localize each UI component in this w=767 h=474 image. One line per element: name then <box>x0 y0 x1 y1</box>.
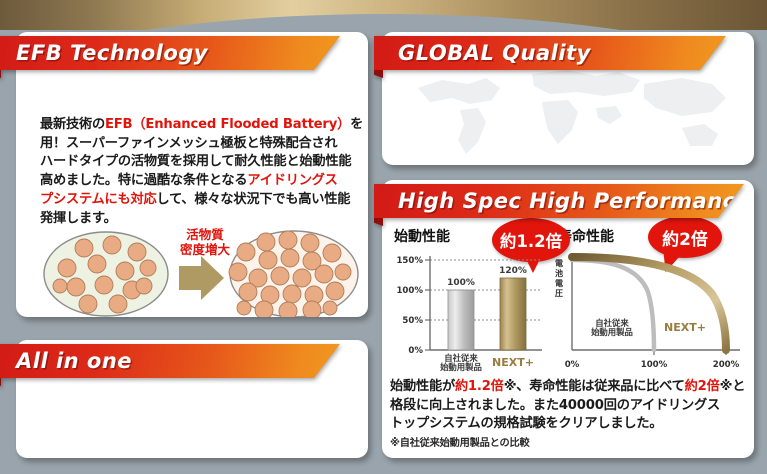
highspec-body-copy: 始動性能が約1.2倍※、寿命性能は従来品に比べて約2倍※と格段に向上されました。… <box>390 378 746 452</box>
bar-category-next-plus: NEXT+ <box>492 356 534 369</box>
banner-high-spec-title: High Spec High Performance <box>398 189 750 213</box>
banner-global-quality-shape: GLOBAL Quality <box>374 36 726 70</box>
banner-efb-technology: EFB Technology <box>0 36 340 70</box>
highspec-copy-line-1-seg-2: 約1.2倍 <box>455 379 504 394</box>
bar-value-conventional: 100% <box>447 278 475 288</box>
highspec-copy-line-1-seg-3: ※、寿命性能は従来品に比べて <box>504 379 685 394</box>
panel-efb-technology: 最新技術のEFB（Enhanced Flooded Battery）を用！スーパ… <box>16 32 368 317</box>
banner-global-quality-title: GLOBAL Quality <box>398 41 591 65</box>
efb-copy-line-1-seg-2: EFB（Enhanced Flooded Battery） <box>105 117 350 132</box>
panel-high-spec: 始動性能 寿命性能 約1.2倍 約2倍 <box>382 180 754 458</box>
highspec-copy-line-2-seg-1: 格段に向上されました。また40000回のアイドリングス <box>390 398 720 413</box>
efb-copy-line-2-seg-1: 用！スーパーファインメッシュ極板と特殊配合され <box>40 136 337 151</box>
highspec-copy-line-2: 格段に向上されました。また40000回のアイドリングス <box>390 397 746 416</box>
efb-copy-line-4-seg-1: 高めました。特に過酷な条件となる <box>40 173 247 188</box>
banner-high-spec-shape: High Spec High Performance <box>374 184 744 218</box>
charts-container: 始動性能 寿命性能 約1.2倍 約2倍 <box>390 222 750 374</box>
efb-copy-line-3: ハードタイプの活物質を採用して耐久性能と始動性能 <box>40 153 368 172</box>
bar-ytick-0: 0% <box>408 346 423 356</box>
line-yaxis-char-3: 電 <box>555 278 563 288</box>
line-yaxis-char-2: 池 <box>555 268 563 278</box>
efb-copy-line-5-seg-1: プシステムにも対応 <box>40 192 157 207</box>
efb-copy-line-5: プシステムにも対応して、様々な状況下でも高い性能 <box>40 191 368 210</box>
banner-all-in-one-title: All in one <box>16 349 132 373</box>
efb-density-diagram: 活物質 密度増大 自社従来始動用製品 NEXT+ <box>40 228 368 317</box>
bar-ytick-150: 150% <box>396 256 423 266</box>
line-xtick-200: 200% <box>713 360 740 370</box>
line-yaxis-char-4: 圧 <box>555 289 563 298</box>
highspec-copy-line-3-seg-1: トップシステムの規格試験をクリアしました。 <box>390 416 662 431</box>
efb-copy-line-1: 最新技術のEFB（Enhanced Flooded Battery）を <box>40 116 368 135</box>
banner-high-spec: High Spec High Performance <box>374 184 744 218</box>
bar-conventional <box>448 290 474 350</box>
bar-value-next-plus: 120% <box>499 266 527 276</box>
efb-copy-line-6-seg-1: 発揮します。 <box>40 211 117 226</box>
arrow-label-line1: 活物質 <box>186 227 224 242</box>
highspec-footnote: ※自社従来始動用製品との比較 <box>390 437 746 451</box>
transition-arrow <box>179 256 224 300</box>
line-label-next-plus: NEXT+ <box>664 321 706 334</box>
highspec-copy-line-1-seg-1: 始動性能が <box>390 379 455 394</box>
line-xtick-0: 0% <box>565 360 580 370</box>
efb-copy-line-5-seg-2: して、様々な状況下でも高い性能 <box>157 192 351 207</box>
banner-efb-shape: EFB Technology <box>0 36 340 70</box>
line-chart-life-performance: 電 池 電 圧 0% 100% 200% 自社従来 始動用製品 <box>550 246 746 374</box>
highspec-copy-line-3: トップシステムの規格試験をクリアしました。 <box>390 415 746 434</box>
highspec-copy-line-1-seg-4: 約2倍 <box>685 379 720 394</box>
banner-global-quality: GLOBAL Quality <box>374 36 726 70</box>
line-xtick-100: 100% <box>641 360 668 370</box>
banner-efb-title: EFB Technology <box>16 41 208 65</box>
bar-next-plus <box>500 278 526 350</box>
efb-copy-line-2: 用！スーパーファインメッシュ極板と特殊配合され <box>40 135 368 154</box>
efb-copy-line-3-seg-1: ハードタイプの活物質を採用して耐久性能と始動性能 <box>40 154 351 169</box>
line-label-conventional-line2: 始動用製品 <box>591 327 633 337</box>
line-yaxis-char-1: 電 <box>555 258 563 268</box>
highspec-copy-line-1-seg-5: ※と <box>720 379 746 394</box>
banner-all-in-one-fold <box>0 378 1 386</box>
banner-all-in-one: All in one <box>0 344 340 378</box>
efb-copy-line-1-seg-3: を <box>350 117 363 132</box>
bar-category-conventional-line2: 始動用製品 <box>440 362 482 372</box>
bar-ytick-50: 50% <box>402 316 423 326</box>
arrow-label-line2: 密度増大 <box>180 242 230 257</box>
efb-copy-line-1-seg-1: 最新技術の <box>40 117 105 132</box>
chart-title-starting-performance: 始動性能 <box>394 226 450 246</box>
highspec-copy-line-1: 始動性能が約1.2倍※、寿命性能は従来品に比べて約2倍※と <box>390 378 746 397</box>
banner-efb-fold <box>0 70 1 78</box>
bar-y-ticks <box>425 260 430 350</box>
bar-chart-starting-performance: 150% 100% 50% 0% 100% 120% 自社従来 始動用製品 NE… <box>390 246 546 374</box>
efb-body-copy: 最新技術のEFB（Enhanced Flooded Battery）を用！スーパ… <box>40 116 368 228</box>
density-arrow-label: 活物質 密度増大 <box>168 228 242 258</box>
line-x-ticks <box>654 350 726 355</box>
banner-all-in-one-shape: All in one <box>0 344 340 378</box>
efb-copy-line-4: 高めました。特に過酷な条件となるアイドリングス <box>40 172 368 191</box>
efb-copy-line-4-seg-2: アイドリングス <box>247 173 337 188</box>
efb-copy-line-6: 発揮します。 <box>40 210 368 229</box>
world-map-watermark <box>382 54 754 165</box>
bar-ytick-100: 100% <box>396 286 423 296</box>
